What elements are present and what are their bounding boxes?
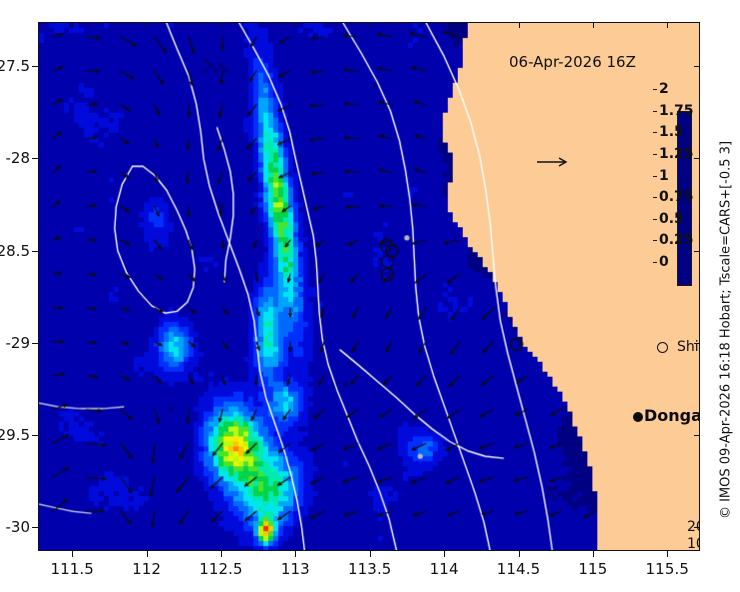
x-tick-top	[667, 22, 668, 28]
x-tick-label: 113.5	[348, 560, 391, 578]
map-plot-area[interactable]: 06-Apr-2026 16Z NRT00 GSL 06-Apr 00:00Z …	[38, 22, 700, 551]
x-tick	[667, 551, 668, 557]
satellite-sst-age-map: 06-Apr-2026 16Z NRT00 GSL 06-Apr 00:00Z …	[0, 0, 740, 592]
x-tick-top	[72, 22, 73, 28]
x-tick-top	[519, 22, 520, 28]
y-tick	[32, 158, 38, 159]
y-tick-label: -29.5	[0, 426, 30, 444]
timestamp-label: 06-Apr-2026 16Z	[509, 53, 636, 71]
x-tick	[444, 551, 445, 557]
x-tick-label: 113	[281, 560, 310, 578]
filled-circle-icon	[633, 412, 643, 422]
colorbar-tick	[653, 176, 657, 177]
x-tick	[519, 551, 520, 557]
circle-outline-icon	[657, 342, 668, 353]
ship-legend: Ship	[657, 339, 700, 355]
colorbar-tick	[653, 240, 657, 241]
x-tick	[147, 551, 148, 557]
y-tick-right	[694, 527, 700, 528]
x-tick-top	[221, 22, 222, 28]
x-tick-top	[370, 22, 371, 28]
y-tick-right	[694, 66, 700, 67]
x-tick-top	[593, 22, 594, 28]
sst-age-heatmap-canvas[interactable]	[39, 23, 699, 550]
y-tick	[32, 527, 38, 528]
colorbar-tick	[653, 197, 657, 198]
y-tick-label: -29	[6, 334, 31, 352]
y-tick	[32, 251, 38, 252]
depth-scale-bar: 200m 1000m	[687, 519, 700, 551]
colorbar-tick	[653, 89, 657, 90]
y-tick-right	[694, 343, 700, 344]
colorbar-tick-label: 0.5	[659, 211, 684, 227]
y-tick-label: -28	[6, 149, 31, 167]
colorbar-tick-label: 1.5	[659, 124, 684, 140]
y-tick-label: -27.5	[0, 57, 30, 75]
y-tick-label: -28.5	[0, 242, 30, 260]
x-tick-label: 111.5	[50, 560, 93, 578]
x-tick	[295, 551, 296, 557]
colorbar-tick-label: 0	[659, 254, 669, 270]
colorbar-tick-label: 1.75	[659, 103, 694, 119]
x-tick	[72, 551, 73, 557]
colorbar-tick-label: 1	[659, 168, 669, 184]
arrow-right-icon	[536, 156, 570, 168]
x-tick-top	[444, 22, 445, 28]
x-tick	[370, 551, 371, 557]
colorbar-tick	[653, 111, 657, 112]
colorbar-tick-label: 2	[659, 81, 669, 97]
y-tick	[32, 435, 38, 436]
y-tick-right	[694, 158, 700, 159]
ship-legend-label: Ship	[677, 339, 700, 355]
x-tick-label: 112.5	[199, 560, 242, 578]
colorbar-tick-label: 0.25	[659, 232, 694, 248]
colorbar-tick-label: 1.25	[659, 146, 694, 162]
colorbar-tick	[653, 219, 657, 220]
x-tick	[221, 551, 222, 557]
x-tick-label: 115	[578, 560, 607, 578]
x-tick-top	[295, 22, 296, 28]
colorbar-tick-label: 0.75	[659, 189, 694, 205]
x-tick	[593, 551, 594, 557]
x-tick-label: 114.5	[497, 560, 540, 578]
x-tick-label: 114	[430, 560, 459, 578]
x-tick-label: 115.5	[646, 560, 689, 578]
credit-label: © IMOS 09-Apr-2026 16:18 Hobart; Tscale=…	[719, 141, 734, 519]
y-tick-right	[694, 251, 700, 252]
y-tick	[32, 66, 38, 67]
colorbar-tick	[653, 154, 657, 155]
colorbar-tick	[653, 262, 657, 263]
x-tick-top	[147, 22, 148, 28]
x-tick-label: 112	[132, 560, 161, 578]
y-tick-label: -30	[6, 518, 31, 536]
colorbar-tick	[653, 132, 657, 133]
city-label-dongara: Dongara	[644, 406, 700, 425]
y-tick	[32, 343, 38, 344]
scale-bar-label-1000m: 1000m	[687, 536, 700, 551]
y-tick-right	[694, 435, 700, 436]
